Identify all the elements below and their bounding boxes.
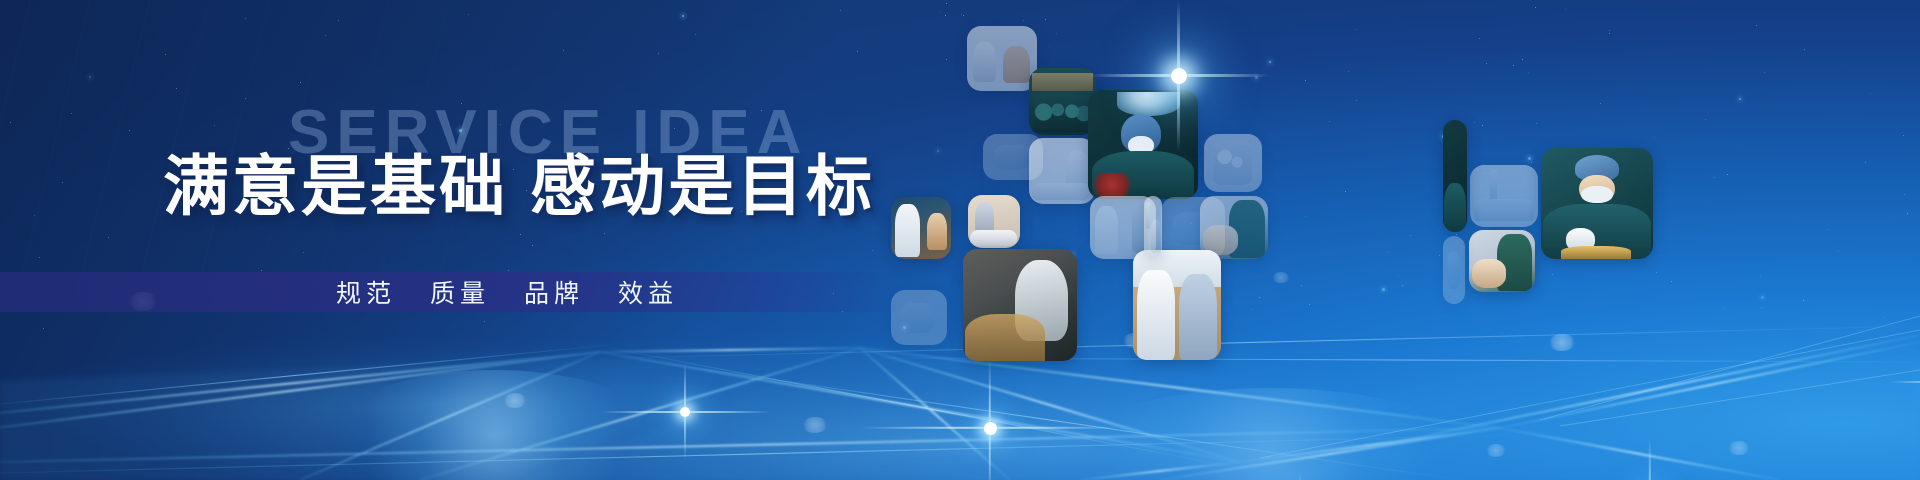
subtitle-item-0: 规范 bbox=[336, 274, 396, 310]
photo-operating-sliver bbox=[1443, 120, 1467, 232]
photo-icu bbox=[1470, 165, 1538, 227]
photo-nurse-green bbox=[1469, 230, 1535, 292]
photo-ward-consult bbox=[967, 26, 1037, 91]
subtitle-item-2: 品牌 bbox=[524, 274, 584, 310]
photo-operating-wide bbox=[963, 249, 1077, 361]
photo-xray-view bbox=[1204, 134, 1262, 192]
headline-block: SERVICE IDEA 满意是基础感动是目标 规范 质量 品牌 效益 bbox=[0, 0, 900, 480]
photo-monitor-sliver bbox=[1144, 196, 1162, 258]
photo-microsurgery bbox=[1541, 148, 1653, 259]
subtitle-item-3: 效益 bbox=[618, 274, 678, 310]
surgery-light-glint bbox=[1178, 75, 1179, 76]
page-title: 满意是基础感动是目标 bbox=[163, 133, 875, 229]
photo-surgery-team bbox=[1029, 68, 1096, 135]
photo-bedside-care bbox=[968, 195, 1020, 248]
subtitle-keywords: 规范 质量 品牌 效益 bbox=[336, 272, 678, 312]
photo-stethoscope-exam bbox=[1133, 250, 1221, 360]
photo-office-consult bbox=[1029, 138, 1095, 204]
subtitle-item-1: 质量 bbox=[430, 274, 490, 310]
photo-surgeon-operating bbox=[1088, 90, 1198, 199]
headline-part-2: 感动是目标 bbox=[530, 148, 875, 225]
photo-doctor-child bbox=[891, 197, 951, 259]
headline-part-1: 满意是基础 bbox=[163, 148, 508, 225]
photo-pale-sliver bbox=[1443, 236, 1465, 304]
service-idea-banner: SERVICE IDEA 满意是基础感动是目标 规范 质量 品牌 效益 bbox=[0, 0, 1920, 480]
